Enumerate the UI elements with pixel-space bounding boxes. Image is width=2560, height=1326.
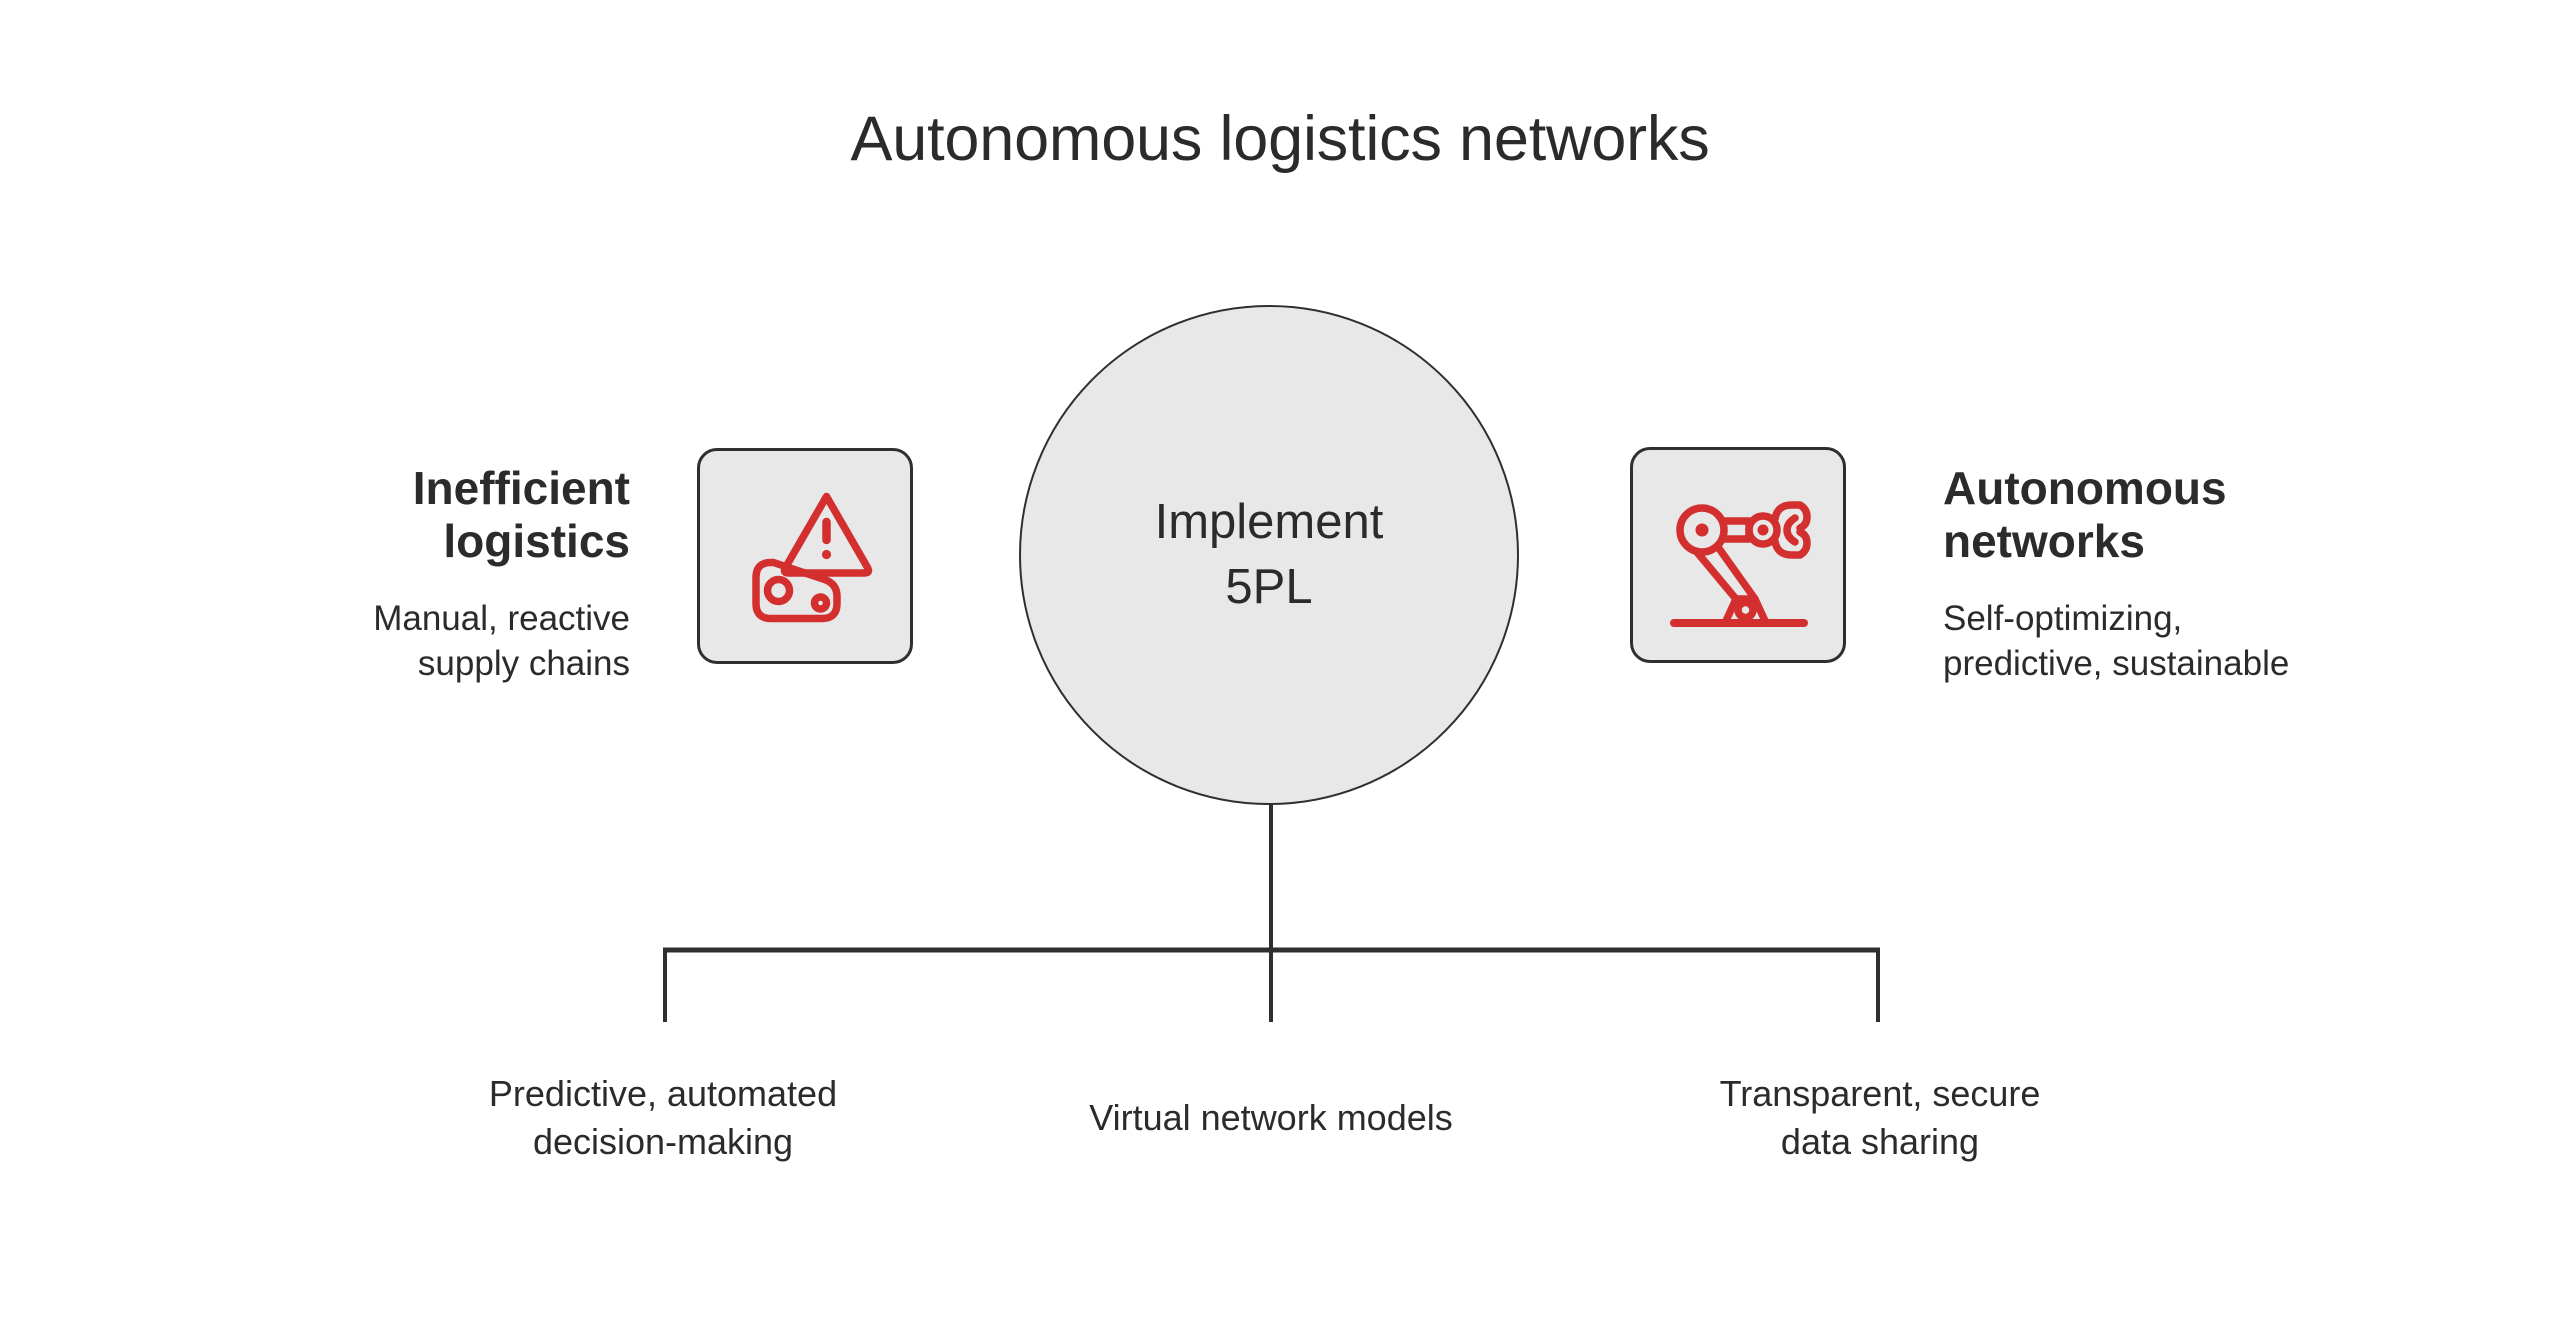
page-title: Autonomous logistics networks [0,105,2560,174]
branch-label-transparent-secure: Transparent, secure data sharing [1560,1070,2200,1166]
center-node-label: Implement 5PL [1155,490,1384,619]
left-label-group: Inefficient logistics Manual, reactive s… [160,462,630,686]
right-subtitle: Self-optimizing, predictive, sustainable [1943,597,2413,687]
robot-arm-icon-tile[interactable] [1630,447,1846,663]
left-heading: Inefficient logistics [160,462,630,569]
warning-conveyor-icon [721,472,889,640]
right-heading: Autonomous networks [1943,462,2413,569]
diagram-canvas: Autonomous logistics networks Implement … [0,0,2560,1326]
robot-arm-icon [1654,471,1822,639]
right-label-group: Autonomous networks Self-optimizing, pre… [1943,462,2413,686]
center-node[interactable]: Implement 5PL [1019,305,1519,805]
left-subtitle: Manual, reactive supply chains [160,597,630,687]
branch-label-virtual-network-models: Virtual network models [951,1094,1591,1142]
branch-label-predictive-automated: Predictive, automated decision-making [343,1070,983,1166]
warning-conveyor-icon-tile[interactable] [697,448,913,664]
